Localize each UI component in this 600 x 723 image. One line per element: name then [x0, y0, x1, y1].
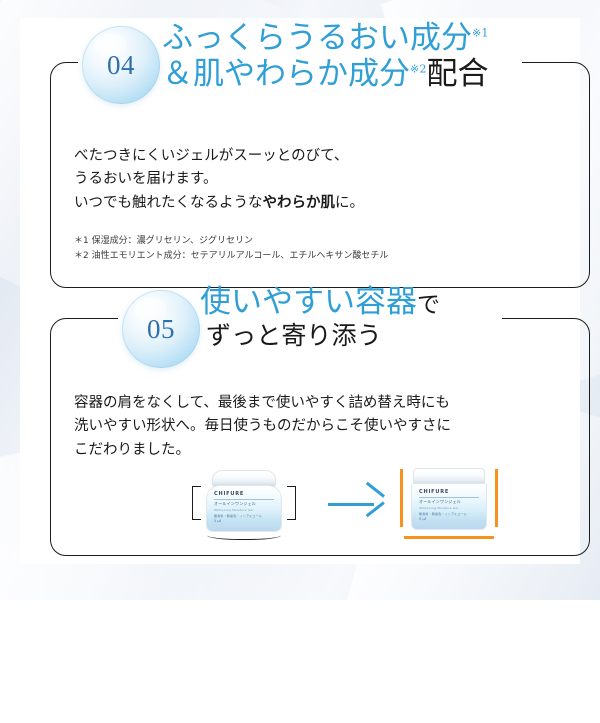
body-line: いつでも触れたくなるようなやわらか肌に。 — [74, 192, 364, 215]
headline-footnote-marker-1: ※1 — [472, 27, 488, 40]
arrow-head — [362, 490, 384, 512]
new-jar-highlight-bottom — [404, 536, 494, 539]
body-line-plain: いつでも触れたくなるような — [74, 195, 263, 211]
shoulder-bracket-left-icon — [192, 486, 201, 520]
old-jar-brand: CHIFURE — [214, 491, 274, 497]
headline-line-1: 使いやすい容器で — [200, 285, 440, 321]
headline-line-2-text: ＆肌やわらか成分 — [162, 56, 410, 92]
headline-line-1-text: 使いやすい容器 — [200, 284, 417, 320]
body-line: 容器の肩をなくして、最後まで使いやすく詰め替え時にも — [74, 392, 451, 415]
content-sheet: 04 ふっくらうるおい成分※1 ＆肌やわらか成分※2配合 べたつきにくいジェルが… — [20, 18, 580, 564]
old-jar: CHIFURE オールインワンジェル Whitening Moisture Ge… — [205, 470, 283, 534]
label-rule — [214, 499, 274, 500]
new-jar-volume: 5 µℓ — [419, 517, 479, 521]
new-jar-highlight-right — [495, 469, 498, 527]
badge-04-number: 04 — [107, 50, 135, 81]
new-jar-highlight-left — [400, 469, 403, 527]
old-jar-label: CHIFURE オールインワンジェル Whitening Moisture Ge… — [214, 491, 274, 523]
new-jar-brand: CHIFURE — [419, 489, 479, 495]
headline-line-2: ずっと寄り添う — [200, 321, 440, 350]
old-jar-volume: 5 µℓ — [214, 519, 274, 523]
shoulder-bracket-right-icon — [287, 486, 296, 520]
section-05-body: 容器の肩をなくして、最後まで使いやすく詰め替え時にも 洗いやすい形状へ。毎日使う… — [74, 392, 451, 462]
old-jar-product-en: Whitening Moisture Gel — [214, 508, 274, 512]
badge-05-number: 05 — [147, 314, 175, 345]
new-jar-product-en: Whitening Moisture Gel — [419, 506, 479, 510]
headline-line-1-suffix: で — [417, 292, 440, 318]
new-jar-product-jp: オールインワンジェル — [419, 499, 479, 505]
new-jar-label: CHIFURE オールインワンジェル Whitening Moisture Ge… — [419, 489, 479, 521]
new-jar-sub: 無香料・無着色・ノンアルコール — [419, 512, 479, 516]
headline-line-1-text: ふっくらうるおい成分 — [162, 20, 472, 56]
body-line: べたつきにくいジェルがスーッとのびて、 — [74, 145, 364, 168]
new-jar: CHIFURE オールインワンジェル Whitening Moisture Ge… — [410, 468, 488, 532]
product-comparison: CHIFURE オールインワンジェル Whitening Moisture Ge… — [50, 466, 590, 554]
body-line: うるおいを届けます。 — [74, 168, 364, 191]
label-rule — [419, 497, 479, 498]
arrow-right-icon — [328, 490, 384, 512]
badge-04: 04 — [82, 26, 160, 104]
headline-line-2-suffix: 配合 — [426, 56, 488, 92]
old-jar-base-curve — [207, 530, 281, 540]
body-line-emphasis: やわらか肌 — [263, 195, 336, 211]
body-line: 洗いやすい形状へ。毎日使うものだからこそ使いやすさに — [74, 415, 451, 438]
headline-line-2: ＆肌やわらか成分※2配合 — [162, 57, 488, 93]
headline-line-1: ふっくらうるおい成分※1 — [162, 21, 488, 57]
section-05-headline: 使いやすい容器で ずっと寄り添う — [200, 285, 440, 350]
badge-05: 05 — [122, 290, 200, 368]
section-04-footnotes: ＊1 保湿成分：濃グリセリン、ジグリセリン ＊2 油性エモリエント成分：セテアリ… — [74, 234, 388, 263]
body-line-tail: に。 — [335, 195, 364, 211]
old-jar-sub: 無香料・無着色・ノンアルコール — [214, 514, 274, 518]
headline-footnote-marker-2: ※2 — [410, 63, 426, 76]
page-background: 04 ふっくらうるおい成分※1 ＆肌やわらか成分※2配合 べたつきにくいジェルが… — [0, 0, 600, 600]
footnote-2: ＊2 油性エモリエント成分：セテアリルアルコール、エチルヘキサン酸セチル — [74, 249, 388, 264]
section-04-headline: ふっくらうるおい成分※1 ＆肌やわらか成分※2配合 — [162, 21, 488, 93]
footnote-1: ＊1 保湿成分：濃グリセリン、ジグリセリン — [74, 234, 388, 249]
body-line: こだわりました。 — [74, 439, 451, 462]
section-04-body: べたつきにくいジェルがスーッとのびて、 うるおいを届けます。 いつでも触れたくな… — [74, 145, 364, 215]
old-jar-product-jp: オールインワンジェル — [214, 501, 274, 507]
